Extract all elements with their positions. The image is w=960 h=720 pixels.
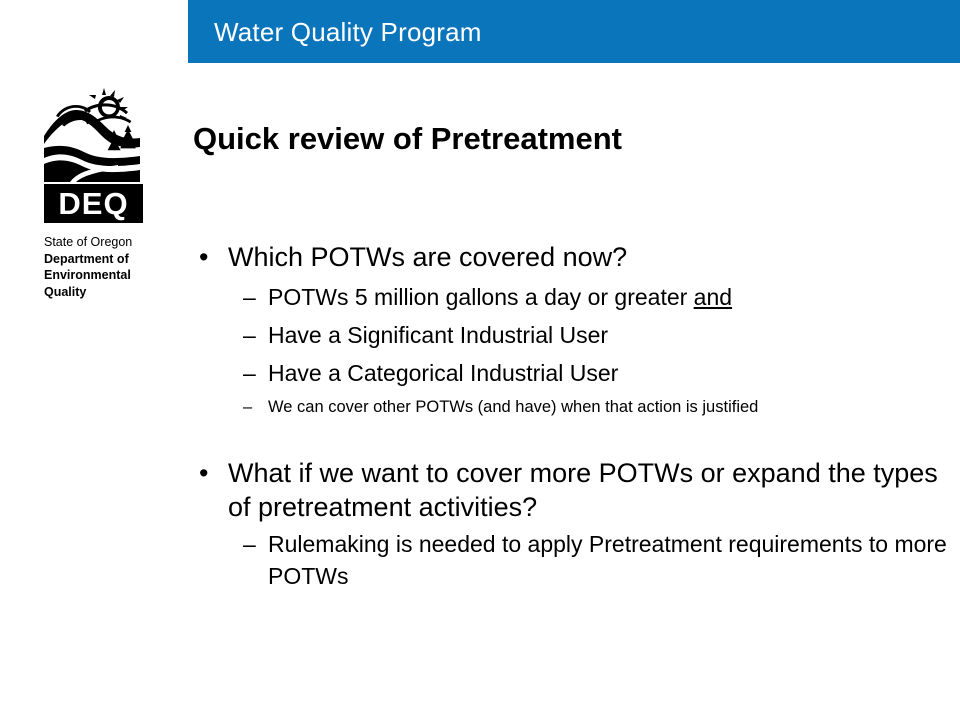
caption-department-of: Department of [44, 251, 164, 268]
bullet-item-what-if-expand: • What if we want to cover more POTWs or… [188, 456, 948, 524]
deq-wordmark-text: DEQ [58, 188, 128, 219]
deq-logo: DEQ State of Oregon Department of Enviro… [40, 86, 152, 186]
sub-bullet-text: Have a Categorical Industrial User [268, 360, 618, 386]
slide-canvas: Water Quality Program [0, 0, 960, 720]
page-title: Quick review of Pretreatment [193, 120, 622, 158]
dash-marker-icon: – [243, 316, 256, 354]
bullet-marker-icon: • [199, 240, 208, 274]
sub-bullet-text: Have a Significant Industrial User [268, 322, 608, 348]
caption-quality: Quality [44, 284, 164, 301]
sub-bullet-text-underlined: and [694, 284, 732, 310]
bullet-text: Which POTWs are covered now? [228, 242, 627, 272]
bullet-marker-icon: • [199, 456, 208, 490]
sub-bullet-item-5mgd: – POTWs 5 million gallons a day or great… [188, 278, 948, 316]
dash-marker-icon: – [243, 392, 252, 422]
sub-bullet-text: We can cover other POTWs (and have) when… [268, 398, 758, 416]
bullet-group-spacer [188, 422, 948, 456]
bullet-text: What if we want to cover more POTWs or e… [228, 458, 938, 522]
sub-bullet-text: POTWs 5 million gallons a day or greater [268, 284, 694, 310]
header-banner: Water Quality Program [188, 0, 960, 63]
bullet-list: • Which POTWs are covered now? – POTWs 5… [188, 240, 948, 592]
deq-mountain-river-sun-emblem [40, 86, 144, 186]
dash-marker-icon: – [243, 528, 256, 560]
caption-state-of-oregon: State of Oregon [44, 234, 164, 251]
sub-bullet-item-rulemaking: – Rulemaking is needed to apply Pretreat… [188, 528, 948, 592]
dash-marker-icon: – [243, 354, 256, 392]
header-title: Water Quality Program [214, 17, 482, 47]
dash-marker-icon: – [243, 278, 256, 316]
sub-bullet-item-significant-industrial-user: – Have a Significant Industrial User [188, 316, 948, 354]
deq-wordmark-box: DEQ [44, 184, 143, 223]
bullet-item-which-potws: • Which POTWs are covered now? [188, 240, 948, 274]
sub-bullet-item-cover-other-potws: – We can cover other POTWs (and have) wh… [188, 392, 948, 422]
deq-logo-caption: State of Oregon Department of Environmen… [44, 234, 164, 300]
sub-bullet-item-categorical-industrial-user: – Have a Categorical Industrial User [188, 354, 948, 392]
sub-bullet-text: Rulemaking is needed to apply Pretreatme… [268, 531, 947, 589]
caption-environmental: Environmental [44, 267, 164, 284]
